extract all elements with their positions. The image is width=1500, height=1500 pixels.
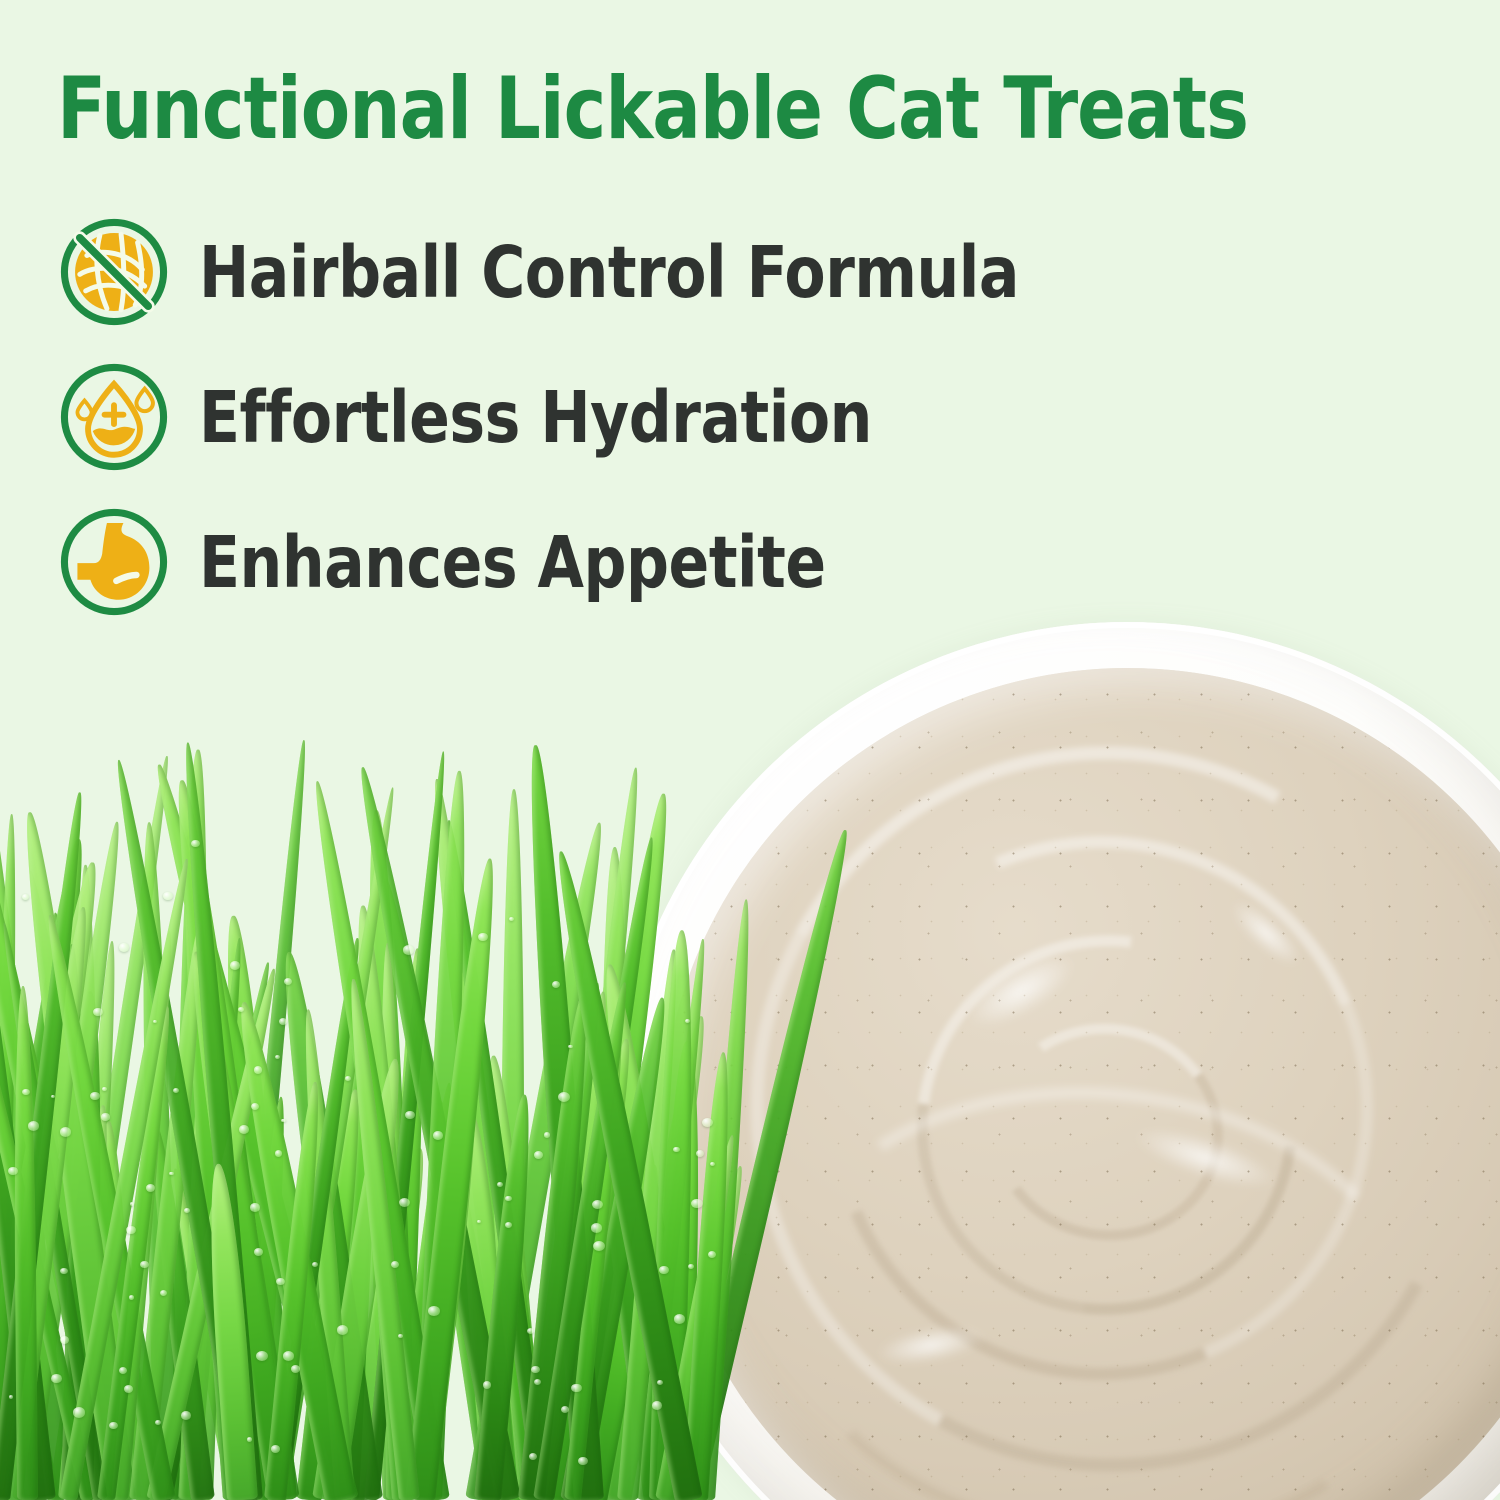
- grass-blade: [23, 869, 164, 1500]
- grass-blade: [226, 740, 312, 1500]
- grass-blade: [566, 1155, 599, 1500]
- grass-blade: [374, 877, 519, 1500]
- grass-blade: [440, 819, 552, 1500]
- grass-blade: [0, 779, 5, 1500]
- dew-drop: [505, 1222, 512, 1228]
- dew-drop: [155, 1420, 161, 1425]
- dew-drop: [571, 1384, 581, 1393]
- grass-blade: [0, 928, 97, 1500]
- dew-drop: [22, 1089, 30, 1096]
- dew-drop: [405, 1111, 415, 1119]
- dew-drop: [140, 1261, 149, 1269]
- grass-blade: [348, 904, 423, 1500]
- dew-drop: [191, 840, 200, 848]
- grass-blade: [216, 914, 297, 1500]
- grass-blade: [178, 742, 264, 1500]
- dew-drop: [312, 1262, 318, 1267]
- grass-blade: [390, 1081, 459, 1500]
- dew-drop: [428, 1306, 440, 1316]
- dew-drop: [276, 1278, 285, 1285]
- dew-drop: [477, 1220, 481, 1223]
- grass-blade: [59, 857, 195, 1500]
- grass-blade: [363, 1068, 413, 1500]
- grass-blade: [183, 938, 247, 1500]
- dew-drop: [130, 1202, 134, 1206]
- dew-drop: [281, 1119, 286, 1123]
- dew-drop: [433, 1131, 443, 1139]
- grass-blade: [61, 943, 93, 1500]
- feature-item-appetite: Enhances Appetite: [55, 498, 1305, 626]
- dew-drop: [230, 961, 241, 970]
- dew-drop: [291, 1365, 300, 1373]
- dew-drop: [544, 1132, 550, 1137]
- dew-drop: [109, 1422, 117, 1429]
- dew-drop: [146, 1184, 155, 1192]
- grass-blade: [173, 835, 254, 1500]
- grass-blade: [61, 991, 107, 1500]
- dew-drop: [275, 1150, 283, 1156]
- grass-blade: [453, 1110, 516, 1500]
- dew-drop: [60, 1268, 68, 1275]
- grass-blade: [180, 948, 300, 1500]
- grass-blade: [272, 950, 382, 1500]
- dew-drop: [391, 1261, 399, 1268]
- grass-blade: [13, 820, 129, 1500]
- dew-drop: [254, 1066, 263, 1074]
- dew-drop: [60, 1336, 69, 1344]
- grass-blade: [296, 1088, 368, 1500]
- dew-drop: [478, 933, 487, 941]
- dew-drop: [9, 1395, 13, 1398]
- dew-drop: [163, 892, 173, 901]
- grass-blade: [165, 779, 291, 1500]
- dew-drop: [552, 981, 560, 988]
- dew-drop: [561, 1406, 569, 1413]
- grass-blade: [0, 921, 108, 1500]
- dew-drop: [279, 1018, 287, 1025]
- dew-drop: [102, 1087, 106, 1091]
- grass-blade: [405, 857, 505, 1500]
- grass-blade: [178, 1151, 219, 1500]
- grass-blade: [129, 921, 212, 1500]
- grass-blade: [45, 912, 132, 1500]
- dew-drop: [51, 1095, 55, 1098]
- dew-drop: [28, 1121, 40, 1131]
- grass-blade: [167, 1167, 244, 1500]
- dew-drop: [284, 978, 292, 985]
- dew-drop: [505, 1196, 512, 1202]
- grass-blade: [146, 967, 283, 1500]
- dew-drop: [101, 1113, 109, 1120]
- grass-blade: [0, 860, 109, 1500]
- dew-drop: [593, 1241, 605, 1251]
- grass-blade: [422, 1098, 515, 1500]
- dew-drop: [497, 1182, 503, 1187]
- dew-drop: [153, 1020, 157, 1023]
- grass-blade: [484, 1163, 552, 1500]
- dew-drop: [8, 1167, 18, 1175]
- grass-blade: [75, 865, 102, 1500]
- dew-drop: [51, 1374, 61, 1383]
- product-feature-banner: Functional Lickable Cat Treats: [0, 0, 1500, 1500]
- grass-blade: [521, 745, 604, 1500]
- grass-blade: [39, 913, 176, 1500]
- grass-blade: [424, 777, 535, 1500]
- dew-drop: [568, 1045, 572, 1049]
- dew-drop: [403, 945, 414, 955]
- dew-drop: [60, 1127, 71, 1136]
- grass-blade: [66, 940, 122, 1500]
- dew-drop: [247, 1437, 253, 1442]
- dew-drop: [22, 894, 29, 900]
- grass-blade: [378, 942, 407, 1500]
- dew-drop: [254, 1248, 263, 1256]
- dew-drop: [119, 1367, 128, 1374]
- grass-blade: [306, 779, 450, 1500]
- dew-drop: [73, 1407, 85, 1417]
- dew-drop: [239, 1125, 250, 1134]
- grass-blade: [241, 1096, 291, 1500]
- grass-blade: [97, 1120, 140, 1500]
- dew-drop: [275, 1055, 280, 1060]
- grass-blade: [144, 1123, 215, 1500]
- dew-drop: [124, 1385, 133, 1393]
- grass-blade: [146, 762, 358, 1500]
- dew-drop: [256, 1351, 268, 1361]
- dew-drop: [399, 1198, 410, 1207]
- grass-blade: [414, 771, 473, 1500]
- feature-label: Enhances Appetite: [199, 521, 826, 604]
- grass-blade: [0, 814, 20, 1500]
- wheatgrass-garnish: [0, 700, 720, 1500]
- grass-blade: [474, 1094, 538, 1500]
- dew-drop: [173, 1088, 179, 1093]
- grass-blade: [48, 755, 175, 1500]
- grass-blade: [55, 998, 161, 1500]
- grass-blade: [0, 779, 71, 1500]
- grass-blade: [521, 982, 608, 1500]
- grass-blade: [192, 926, 292, 1500]
- grass-blade: [540, 990, 615, 1500]
- grass-blade: [58, 1104, 115, 1500]
- grass-blade: [171, 749, 212, 1500]
- grass-blade: [271, 786, 401, 1500]
- grass-blade: [136, 822, 180, 1500]
- dew-drop: [534, 1151, 543, 1159]
- grass-blade: [264, 1081, 326, 1500]
- dew-drop: [283, 1351, 295, 1361]
- grass-blade: [351, 765, 521, 1500]
- grass-blade: [13, 986, 39, 1500]
- feature-label: Effortless Hydration: [199, 376, 872, 459]
- grass-blade: [109, 758, 258, 1500]
- dew-drop: [591, 1223, 602, 1233]
- dew-drop: [93, 1008, 103, 1016]
- dew-drop: [90, 1092, 100, 1101]
- feature-list: Hairball Control Formula Effortless Hydr…: [55, 208, 1305, 643]
- dew-drop: [534, 1379, 542, 1386]
- grass-blade: [500, 788, 525, 1500]
- dew-drop: [126, 1226, 135, 1234]
- grass-blade: [0, 904, 96, 1500]
- dew-drop: [483, 1381, 492, 1388]
- grass-blade: [97, 1006, 176, 1500]
- dew-drop: [592, 1200, 603, 1210]
- feature-item-hairball: Hairball Control Formula: [55, 208, 1305, 336]
- feature-item-hydration: Effortless Hydration: [55, 353, 1305, 481]
- grass-blade: [111, 930, 178, 1500]
- dew-drop: [181, 1411, 191, 1420]
- grass-blade: [228, 999, 356, 1500]
- dew-drop: [160, 1290, 167, 1296]
- grass-blade: [331, 1145, 436, 1500]
- grass-blade: [518, 996, 596, 1500]
- dew-drop: [169, 1172, 174, 1176]
- stomach-icon: [55, 503, 173, 621]
- grass-blade: [361, 810, 418, 1500]
- grass-blade: [0, 841, 56, 1500]
- grass-blade: [203, 1162, 258, 1500]
- grass-blade: [323, 1038, 381, 1500]
- feature-label: Hairball Control Formula: [199, 231, 1019, 314]
- grass-blade: [179, 969, 232, 1500]
- grass-blade: [0, 995, 60, 1500]
- grass-blade: [343, 978, 420, 1500]
- dew-drop: [337, 1325, 348, 1335]
- grass-blade: [312, 1056, 410, 1500]
- grass-blade: [384, 948, 430, 1500]
- dew-drop: [531, 1366, 540, 1373]
- dew-drop: [184, 1208, 190, 1213]
- dew-drop: [129, 1295, 135, 1300]
- dew-drop: [529, 1453, 537, 1460]
- dew-drop: [238, 1007, 244, 1012]
- grass-blade: [364, 750, 451, 1500]
- dew-drop: [652, 1401, 663, 1410]
- dew-drop: [398, 1334, 402, 1338]
- grass-blade: [336, 979, 384, 1500]
- page-title: Functional Lickable Cat Treats: [57, 66, 1359, 152]
- dew-drop: [271, 1445, 280, 1453]
- grass-blade: [156, 961, 276, 1500]
- grass-blade: [480, 1054, 547, 1500]
- grass-blade: [15, 811, 136, 1500]
- grass-blade: [269, 936, 365, 1500]
- dew-drop: [527, 1328, 534, 1334]
- dew-drop: [509, 917, 514, 921]
- no-hairball-icon: [55, 213, 173, 331]
- dew-drop: [250, 1203, 260, 1211]
- grass-blade: [0, 791, 90, 1500]
- grass-blade: [405, 1051, 488, 1500]
- grass-blade: [0, 780, 131, 1500]
- dew-drop: [251, 1103, 259, 1110]
- water-droplet-plus-icon: [55, 358, 173, 476]
- dew-drop: [578, 1457, 588, 1466]
- grass-blade: [0, 838, 95, 1500]
- dew-drop: [119, 943, 129, 952]
- grass-blade: [299, 1009, 356, 1500]
- grass-blade: [466, 820, 614, 1500]
- dew-drop: [657, 1380, 663, 1386]
- dew-drop: [345, 1076, 351, 1081]
- dew-drop: [558, 1092, 570, 1102]
